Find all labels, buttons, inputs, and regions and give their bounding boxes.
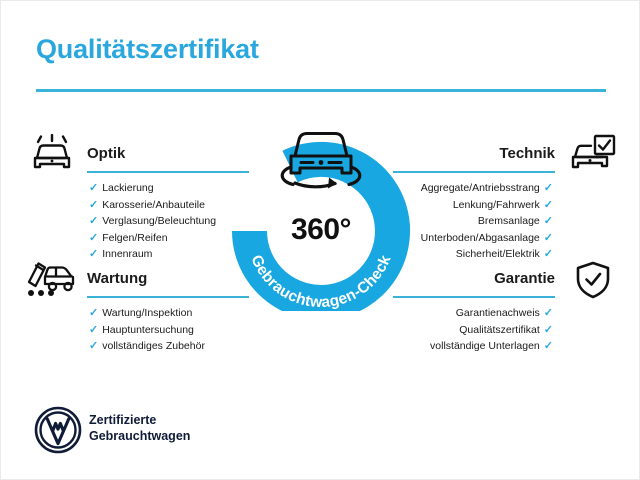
list-item-label: Wartung/Inspektion — [102, 307, 192, 319]
list-item-label: Bremsanlage — [478, 215, 540, 227]
badge-center-label: 360° — [223, 213, 419, 247]
list-item-label: Karosserie/Anbauteile — [102, 199, 205, 211]
page-title: Qualitätszertifikat — [36, 34, 259, 65]
list-item-label: Sicherheit/Elektrik — [456, 248, 540, 260]
footer-brand-text: Zertifizierte Gebrauchtwagen — [89, 412, 190, 444]
list-item-label: Lackierung — [102, 182, 153, 194]
check-icon: ✓ — [544, 215, 553, 227]
checklist-garantie: Garantienachweis✓ Qualitätszertifikat✓ v… — [393, 305, 563, 355]
list-item-label: Verglasung/Beleuchtung — [102, 215, 216, 227]
check-icon: ✓ — [544, 199, 553, 211]
list-item-label: Innenraum — [102, 248, 152, 260]
list-item: Qualitätszertifikat✓ — [393, 322, 563, 339]
car-checkbox-icon — [569, 134, 617, 179]
check-icon: ✓ — [89, 182, 98, 194]
checklist-wartung: ✓Wartung/Inspektion ✓Hauptuntersuchung ✓… — [79, 305, 249, 355]
check-icon: ✓ — [544, 182, 553, 194]
check-icon: ✓ — [89, 215, 98, 227]
check-icon: ✓ — [544, 248, 553, 260]
check-icon: ✓ — [544, 324, 553, 336]
list-item-label: Unterboden/Abgasanlage — [421, 232, 540, 244]
check-icon: ✓ — [89, 232, 98, 244]
check-icon: ✓ — [89, 340, 98, 352]
check-icon: ✓ — [544, 340, 553, 352]
list-item-label: Aggregate/Antriebsstrang — [421, 182, 540, 194]
check-icon: ✓ — [89, 324, 98, 336]
list-item-label: Qualitätszertifikat — [459, 324, 540, 336]
check-icon: ✓ — [544, 307, 553, 319]
360-check-badge: Gebrauchtwagen-Check 360° — [223, 119, 419, 311]
list-item-label: Lenkung/Fahrwerk — [453, 199, 540, 211]
list-item-label: vollständiges Zubehör — [102, 340, 205, 352]
car-front-shine-icon — [29, 134, 75, 179]
shield-check-icon — [573, 260, 613, 305]
list-item-label: vollständige Unterlagen — [430, 340, 540, 352]
footer-line-1: Zertifizierte — [89, 412, 190, 428]
list-item-label: Garantienachweis — [456, 307, 540, 319]
list-item: vollständige Unterlagen✓ — [393, 338, 563, 355]
check-icon: ✓ — [89, 248, 98, 260]
check-icon: ✓ — [89, 199, 98, 211]
footer-line-2: Gebrauchtwagen — [89, 428, 190, 444]
pen-car-service-icon — [25, 259, 77, 304]
check-icon: ✓ — [89, 307, 98, 319]
volkswagen-logo — [34, 406, 82, 454]
check-icon: ✓ — [544, 232, 553, 244]
list-item-label: Hauptuntersuchung — [102, 324, 194, 336]
list-item-label: Felgen/Reifen — [102, 232, 167, 244]
quality-certificate-page: Qualitätszertifikat — [0, 0, 640, 480]
list-item: ✓vollständiges Zubehör — [79, 338, 249, 355]
list-item: ✓Hauptuntersuchung — [79, 322, 249, 339]
title-divider — [36, 89, 606, 92]
